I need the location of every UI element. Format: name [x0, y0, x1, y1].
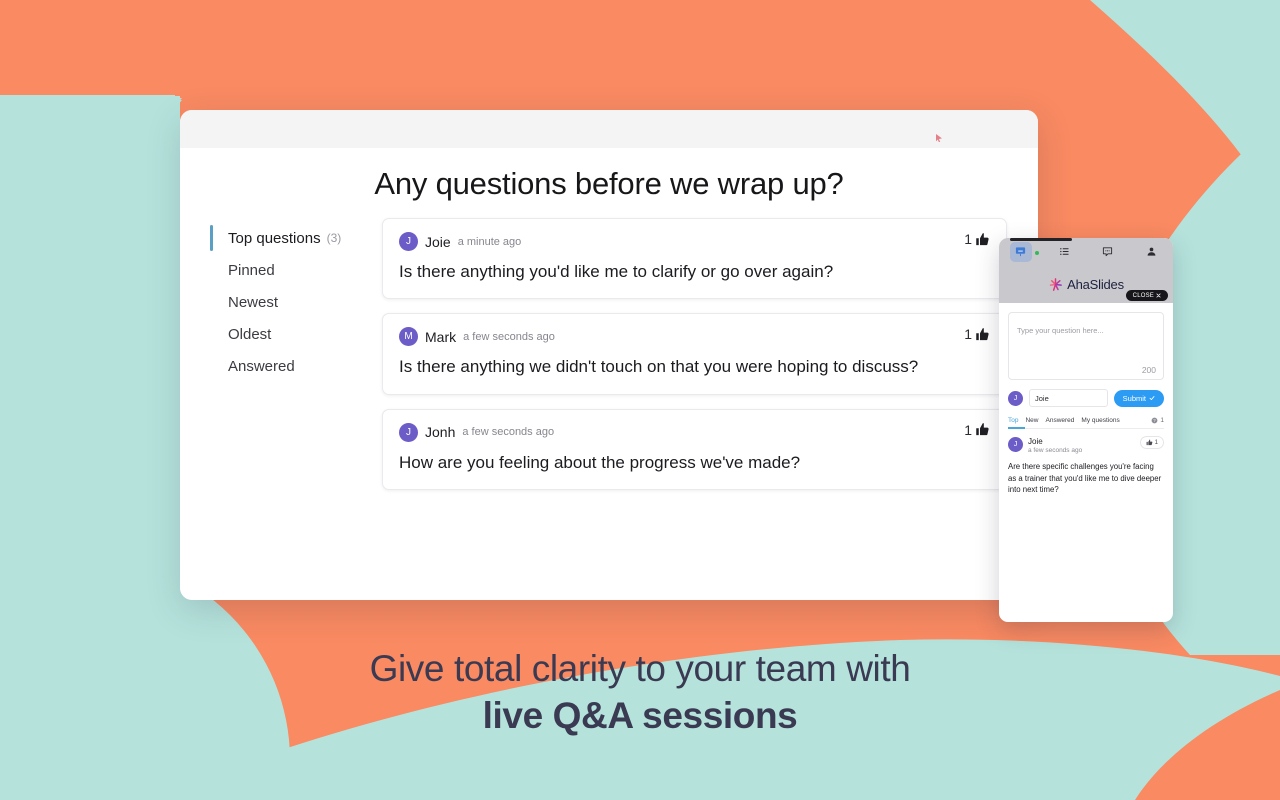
name-and-submit-row: J Joie Submit [1008, 389, 1164, 407]
question-mark-circle-icon: ? [1151, 417, 1158, 424]
submit-button[interactable]: Submit [1114, 390, 1164, 407]
avatar: J [399, 232, 418, 251]
mouse-cursor-icon [936, 134, 942, 142]
mobile-vote-control[interactable]: 1 [1140, 436, 1164, 449]
tab-new[interactable]: New [1025, 417, 1038, 424]
question-timestamp: a few seconds ago [463, 331, 555, 343]
filter-label: Top questions [228, 230, 321, 247]
question-card[interactable]: J Jonh a few seconds ago How are you fee… [382, 409, 1007, 490]
question-header: M Mark a few seconds ago [399, 327, 990, 346]
question-input-placeholder: Type your question here... [1017, 326, 1104, 335]
presentation-slide-panel: Any questions before we wrap up? Top que… [180, 110, 1038, 600]
tab-answered[interactable]: Answered [1046, 417, 1075, 424]
thumbs-up-icon [975, 422, 990, 437]
filter-label: Oldest [228, 326, 271, 343]
tab-my-questions[interactable]: My questions [1081, 417, 1119, 424]
submit-label: Submit [1123, 394, 1146, 403]
filter-top-questions[interactable]: Top questions (3) [210, 222, 375, 254]
avatar: J [399, 423, 418, 442]
close-label: CLOSE [1133, 293, 1154, 299]
ahaslides-starburst-icon [1048, 277, 1063, 292]
slide-topbar [180, 110, 1038, 148]
filter-label: Newest [228, 294, 278, 311]
mobile-audience-panel: AhaSlides CLOSE Type your question here.… [999, 238, 1173, 622]
mobile-tab-bar: Top New Answered My questions ? 1 [1008, 417, 1164, 429]
question-card[interactable]: J Joie a minute ago Is there anything yo… [382, 218, 1007, 299]
vote-control[interactable]: 1 [964, 422, 990, 438]
question-timestamp: a few seconds ago [462, 426, 554, 438]
question-author: Joie [425, 234, 451, 250]
close-x-icon [1156, 293, 1161, 298]
filter-label: Answered [228, 358, 295, 375]
vote-count: 1 [964, 326, 972, 342]
filter-label: Pinned [228, 262, 275, 279]
presentation-icon[interactable] [999, 246, 1043, 257]
avatar: J [1008, 391, 1023, 406]
thumbs-up-icon [975, 232, 990, 247]
filter-oldest[interactable]: Oldest [210, 318, 375, 350]
vote-count: 1 [964, 231, 972, 247]
person-icon[interactable] [1130, 246, 1174, 257]
question-count-badge: ? 1 [1151, 417, 1164, 424]
thumbs-up-icon [975, 327, 990, 342]
question-header: J Joie a minute ago [399, 232, 990, 251]
progress-bar [1010, 238, 1072, 241]
check-icon [1149, 395, 1155, 401]
avatar: J [1008, 437, 1023, 452]
mobile-question-meta: Joie a few seconds ago [1028, 437, 1082, 454]
slide-title: Any questions before we wrap up? [180, 166, 1038, 202]
list-icon[interactable] [1043, 246, 1087, 257]
filter-answered[interactable]: Answered [210, 350, 375, 382]
name-input-value: Joie [1035, 394, 1049, 403]
question-header: J Jonh a few seconds ago [399, 423, 990, 442]
thumbs-up-icon [1146, 439, 1153, 446]
filter-pinned[interactable]: Pinned [210, 254, 375, 286]
question-card[interactable]: M Mark a few seconds ago Is there anythi… [382, 313, 1007, 394]
caption-line-1: Give total clarity to your team with [0, 645, 1280, 692]
filter-newest[interactable]: Newest [210, 286, 375, 318]
marketing-caption: Give total clarity to your team with liv… [0, 645, 1280, 740]
brand-name: AhaSlides [1067, 277, 1124, 292]
vote-count: 1 [964, 422, 972, 438]
mobile-vote-count: 1 [1155, 440, 1158, 446]
mobile-question-item[interactable]: J Joie a few seconds ago 1 Are there spe… [1008, 429, 1164, 496]
badge-count: 1 [1160, 417, 1164, 424]
question-author: Mark [425, 329, 456, 345]
character-counter: 200 [1142, 365, 1156, 375]
vote-control[interactable]: 1 [964, 326, 990, 342]
caption-line-2: live Q&A sessions [0, 692, 1280, 739]
mobile-brand-bar: AhaSlides CLOSE [999, 265, 1173, 303]
filter-count: (3) [327, 231, 342, 245]
question-input[interactable]: Type your question here... 200 [1008, 312, 1164, 380]
vote-control[interactable]: 1 [964, 231, 990, 247]
mobile-question-timestamp: a few seconds ago [1028, 447, 1082, 454]
mobile-question-author: Joie [1028, 437, 1082, 446]
question-card-list: J Joie a minute ago Is there anything yo… [382, 218, 1007, 504]
name-input[interactable]: Joie [1029, 389, 1108, 407]
question-text: How are you feeling about the progress w… [399, 452, 990, 473]
mobile-body: Type your question here... 200 J Joie Su… [999, 312, 1173, 496]
tab-top[interactable]: Top [1008, 417, 1018, 424]
question-timestamp: a minute ago [458, 236, 522, 248]
question-filter-list: Top questions (3) Pinned Newest Oldest A… [210, 222, 375, 382]
question-author: Jonh [425, 424, 455, 440]
question-text: Is there anything we didn't touch on tha… [399, 356, 990, 377]
chat-icon[interactable] [1086, 246, 1130, 257]
mobile-question-text: Are there specific challenges you're fac… [1008, 461, 1164, 496]
close-button[interactable]: CLOSE [1126, 290, 1168, 301]
question-text: Is there anything you'd like me to clari… [399, 261, 990, 282]
online-status-dot [1035, 251, 1039, 255]
mobile-toolbar [999, 238, 1173, 265]
avatar: M [399, 327, 418, 346]
